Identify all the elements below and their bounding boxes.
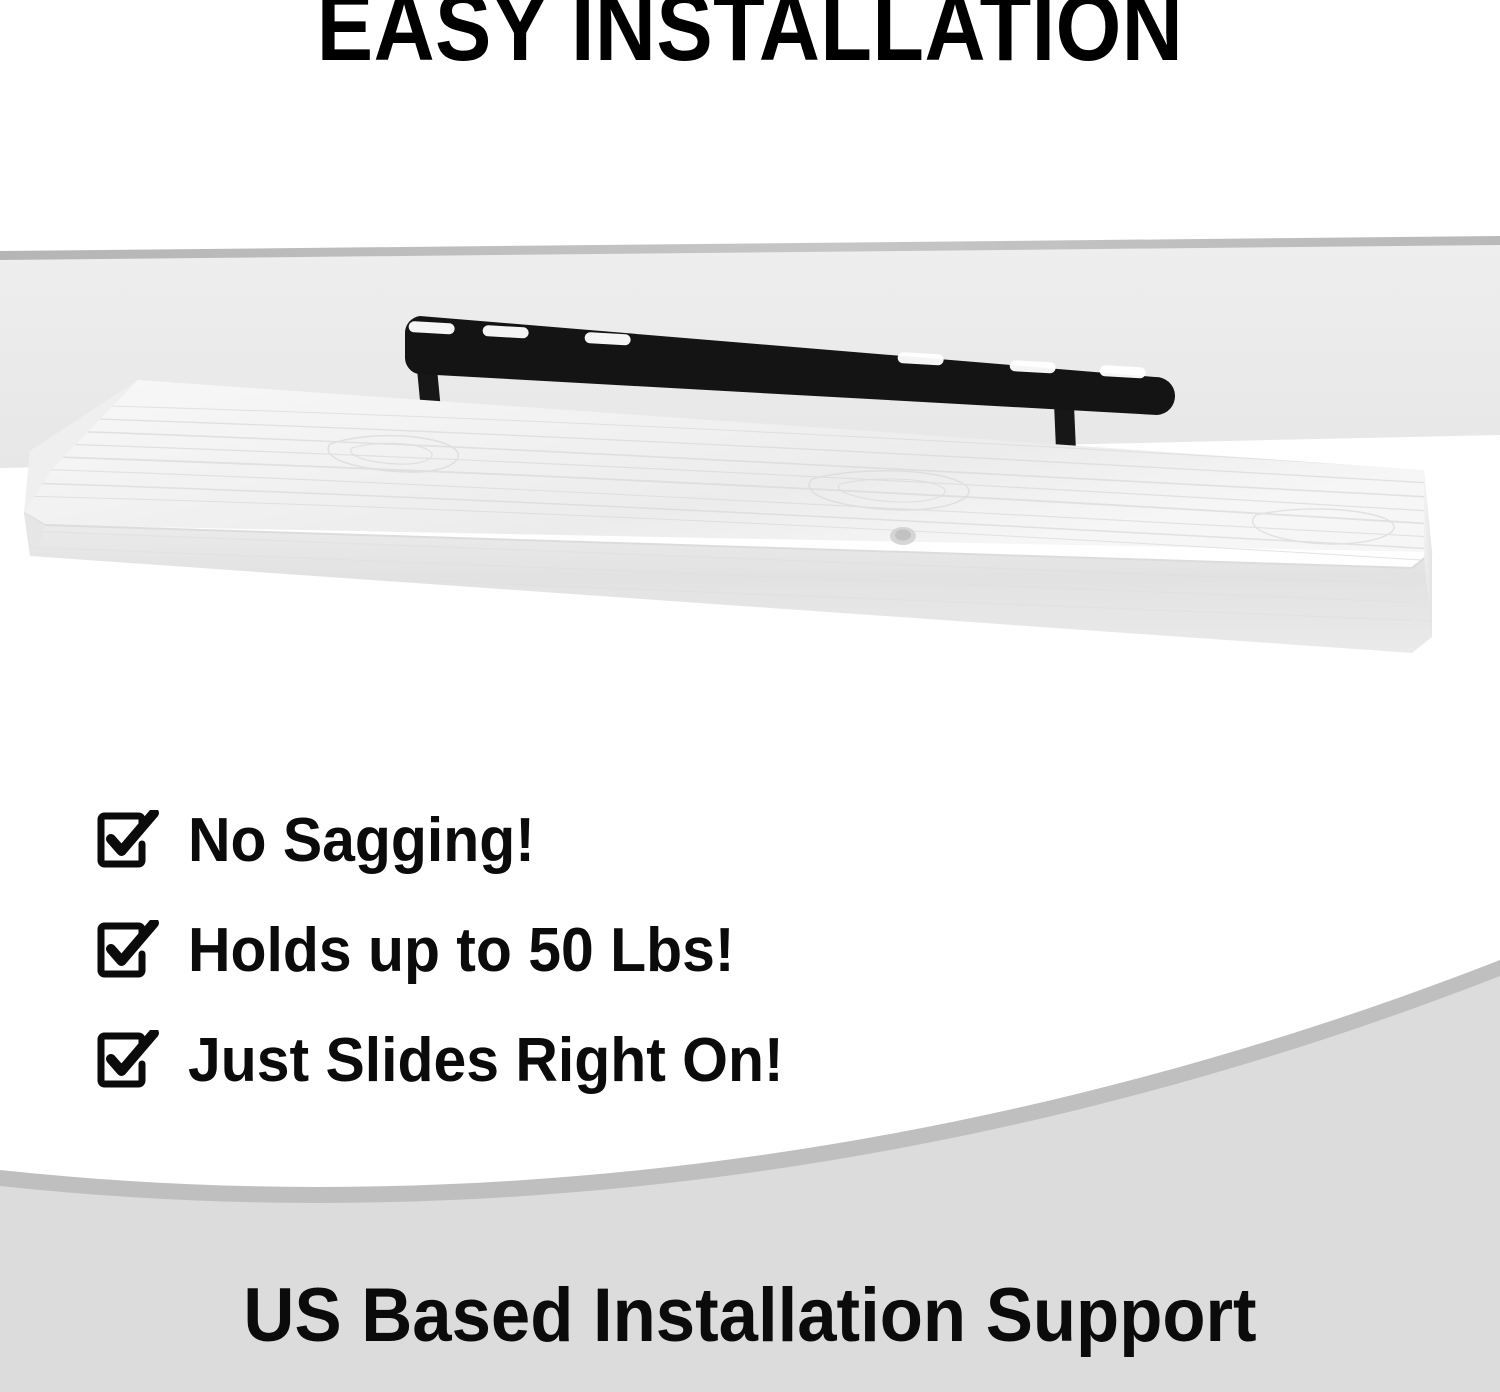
footer-text: US Based Installation Support (53, 1278, 1448, 1354)
feature-label: No Sagging! (188, 810, 535, 872)
shelf-knot-detail (890, 527, 916, 545)
product-marketing-image: EASY INSTALLATION (0, 0, 1500, 1392)
product-photo (0, 225, 1500, 785)
page-title: EASY INSTALLATION (90, 0, 1410, 76)
floating-shelf-board (0, 225, 1500, 785)
list-item: No Sagging! (96, 786, 996, 896)
checkbox-checked-icon (96, 810, 162, 872)
